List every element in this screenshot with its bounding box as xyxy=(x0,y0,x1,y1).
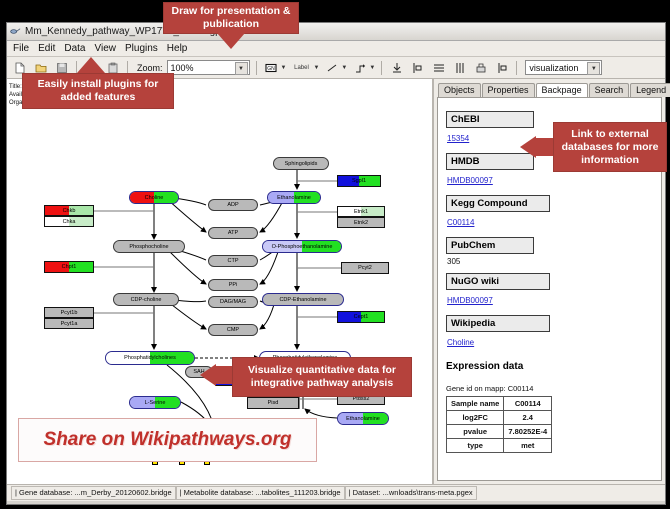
pathway-node-etnk1[interactable]: Etnk1 xyxy=(337,206,385,217)
db-header-kegg-compound: Kegg Compound xyxy=(446,195,550,212)
table-row: typemet xyxy=(447,439,552,453)
node-label: Pcyt1a xyxy=(61,321,78,327)
zoom-label: Zoom: xyxy=(137,63,163,73)
datanode-tool[interactable]: GN ▼ xyxy=(263,59,287,76)
node-label: Choline xyxy=(145,195,164,201)
line-tool[interactable]: ▼ xyxy=(323,59,347,76)
callout-plugins-arrow-icon xyxy=(77,57,105,73)
group-icon[interactable] xyxy=(493,59,510,76)
screenshot-root: Mm_Kennedy_pathway_WP1771_45176.gp File … xyxy=(0,0,670,509)
pathway-node-pcyt2[interactable]: Pcyt2 xyxy=(341,262,389,274)
align-left-icon[interactable] xyxy=(409,59,426,76)
callout-share-text: Share on Wikipathways.org xyxy=(44,429,292,451)
visualization-combobox[interactable]: visualization ▼ xyxy=(525,60,602,75)
node-label: Chkb xyxy=(63,208,76,214)
menu-bar: File Edit Data View Plugins Help xyxy=(7,41,665,57)
table-cell-key: type xyxy=(447,439,504,453)
pathway-node-adp[interactable]: ADP xyxy=(208,199,258,211)
node-label: Chka xyxy=(63,219,76,225)
pathway-node-ppi[interactable]: PPi xyxy=(208,279,258,291)
pathway-node-ethanolamine_top[interactable]: Ethanolamine xyxy=(267,191,321,204)
menu-help[interactable]: Help xyxy=(167,43,188,54)
callout-visualize-arrow-icon xyxy=(200,364,216,386)
arrow-connector-icon[interactable] xyxy=(351,59,368,76)
zoom-combobox[interactable]: 100% ▼ xyxy=(167,60,250,75)
pathway-node-choline_top[interactable]: Choline xyxy=(129,191,179,204)
node-label: PPi xyxy=(229,282,238,288)
pathway-node-atp[interactable]: ATP xyxy=(208,227,258,239)
db-value-hmdb[interactable]: HMDB00097 xyxy=(447,176,493,185)
pathway-node-ethanolamine_bot[interactable]: Ethanolamine xyxy=(337,412,389,425)
menu-edit[interactable]: Edit xyxy=(38,43,55,54)
table-cell-key: Sample name xyxy=(447,397,504,411)
menu-data[interactable]: Data xyxy=(64,43,85,54)
pathway-node-cdpethanolamine[interactable]: CDP-Ethanolamine xyxy=(262,293,344,306)
table-cell-value: C00114 xyxy=(504,397,552,411)
svg-text:GN: GN xyxy=(267,66,275,72)
db-header-wikipedia: Wikipedia xyxy=(446,315,550,332)
table-row: Sample nameC00114 xyxy=(447,397,552,411)
status-gene-database: | Gene database: ...m_Derby_20120602.bri… xyxy=(11,486,176,500)
callout-links-arrow-icon xyxy=(520,136,536,158)
toolbar-separator xyxy=(381,61,382,75)
table-cell-value: 7.80252E-4 xyxy=(504,425,552,439)
node-label: Pcyt1b xyxy=(61,310,78,316)
node-label: Ethanolamine xyxy=(277,195,311,201)
db-value-wikipedia[interactable]: Choline xyxy=(447,338,474,347)
tab-properties[interactable]: Properties xyxy=(482,83,535,97)
label-icon[interactable]: Label xyxy=(290,59,312,76)
node-label: Etnk2 xyxy=(354,220,368,226)
db-value-nugo-wiki[interactable]: HMDB00097 xyxy=(447,296,493,305)
pathway-node-pcyt1a[interactable]: Pcyt1a xyxy=(44,318,94,329)
tab-objects[interactable]: Objects xyxy=(438,83,481,97)
node-label: Pisd xyxy=(268,400,279,406)
pathway-node-chka[interactable]: Chka xyxy=(44,216,94,227)
chevron-down-icon[interactable]: ▼ xyxy=(587,62,600,75)
db-value-pubchem: 305 xyxy=(447,257,653,266)
db-header-nugo-wiki: NuGO wiki xyxy=(446,273,550,290)
title-bar: Mm_Kennedy_pathway_WP1771_45176.gp xyxy=(7,23,665,41)
tab-search[interactable]: Search xyxy=(589,83,630,97)
table-row: pvalue7.80252E-4 xyxy=(447,425,552,439)
label-tool[interactable]: Label ▼ xyxy=(290,59,319,76)
pathway-node-sgpl1[interactable]: Sgpl1 xyxy=(337,175,381,187)
chevron-down-icon[interactable]: ▼ xyxy=(281,65,287,71)
node-label: Pcyt2 xyxy=(358,265,372,271)
chevron-down-icon[interactable]: ▼ xyxy=(235,62,248,75)
pathway-node-cdpcholine[interactable]: CDP-choline xyxy=(113,293,179,306)
node-label: Phosphatidylcholines xyxy=(124,355,176,361)
pathway-node-cmp[interactable]: CMP xyxy=(208,324,258,336)
db-value-kegg-compound[interactable]: C00114 xyxy=(447,218,474,227)
align-bottom-icon[interactable] xyxy=(388,59,405,76)
pathway-node-sphingolipids[interactable]: Sphingolipids xyxy=(273,157,329,170)
menu-view[interactable]: View xyxy=(94,43,116,54)
status-bar: | Gene database: ...m_Derby_20120602.bri… xyxy=(7,484,665,501)
db-value-chebi[interactable]: 15354 xyxy=(447,134,469,143)
pathway-node-dagmag[interactable]: DAG/MAG xyxy=(208,296,258,308)
table-cell-key: log2FC xyxy=(447,411,504,425)
pathway-node-chkb[interactable]: Chkb xyxy=(44,205,94,216)
pathway-node-pisd[interactable]: Pisd xyxy=(247,397,299,409)
node-label: CMP xyxy=(227,327,239,333)
node-label: CDP-choline xyxy=(131,297,162,303)
node-label: Sgpl1 xyxy=(352,178,366,184)
pathway-node-ptdcholines[interactable]: Phosphatidylcholines xyxy=(105,351,195,365)
node-label: L-Serine xyxy=(145,400,166,406)
callout-visualize: Visualize quantitative data for integrat… xyxy=(232,357,412,397)
status-metabolite-database: | Metabolite database: ...tabolites_1112… xyxy=(176,486,345,500)
node-label: Etnk1 xyxy=(354,209,368,215)
table-cell-key: pvalue xyxy=(447,425,504,439)
toolbar-separator xyxy=(516,61,517,75)
pathway-node-ctp[interactable]: CTP xyxy=(208,255,258,267)
db-header-pubchem: PubChem xyxy=(446,237,534,254)
menu-plugins[interactable]: Plugins xyxy=(125,43,158,54)
table-cell-value: 2.4 xyxy=(504,411,552,425)
menu-file[interactable]: File xyxy=(13,43,29,54)
pathvisio-icon xyxy=(10,26,21,37)
node-label: CDP-Ethanolamine xyxy=(279,297,326,303)
pathway-node-cept1[interactable]: Cept1 xyxy=(337,311,385,323)
expression-data-heading: Expression data xyxy=(446,361,653,372)
status-dataset: | Dataset: ...wnloads\trans-meta.pgex xyxy=(345,486,477,500)
callout-share: Share on Wikipathways.org xyxy=(18,418,317,462)
gene-id-line: Gene id on mapp: C00114 xyxy=(446,384,653,393)
distribute-horizontal-icon[interactable] xyxy=(451,59,468,76)
chevron-down-icon[interactable]: ▼ xyxy=(313,65,319,71)
table-cell-value: met xyxy=(504,439,552,453)
callout-links: Link to external databases for more info… xyxy=(553,122,667,172)
node-label: DAG/MAG xyxy=(220,299,246,305)
pathway-node-pcyt1b[interactable]: Pcyt1b xyxy=(44,307,94,318)
node-label: CTP xyxy=(228,258,239,264)
callout-plugins: Easily install plugins for added feature… xyxy=(22,73,174,109)
visualization-value: visualization xyxy=(529,63,578,73)
toolbar-separator xyxy=(256,61,257,75)
node-label: Phosphocholine xyxy=(129,244,168,250)
zoom-value: 100% xyxy=(171,63,194,73)
table-row: log2FC2.4 xyxy=(447,411,552,425)
node-label: ATP xyxy=(228,230,238,236)
distribute-vertical-icon[interactable] xyxy=(430,59,447,76)
chevron-down-icon[interactable]: ▼ xyxy=(341,65,347,71)
db-header-chebi: ChEBI xyxy=(446,111,534,128)
connector-tool[interactable]: ▼ xyxy=(351,59,375,76)
line-icon[interactable] xyxy=(323,59,340,76)
datanode-icon[interactable]: GN xyxy=(263,59,280,76)
tab-legend[interactable]: Legend xyxy=(630,83,670,97)
side-panel-tabs: ObjectsPropertiesBackpageSearchLegend xyxy=(434,81,665,97)
node-label: Ethanolamine xyxy=(346,416,380,422)
pathway-node-phosphocholine[interactable]: Phosphocholine xyxy=(113,240,185,253)
pathway-node-chpt1[interactable]: Chpt1 xyxy=(44,261,94,273)
pathway-node-etnk2[interactable]: Etnk2 xyxy=(337,217,385,228)
callout-draw: Draw for presentation & publication xyxy=(163,2,299,34)
pathway-node-lserine_left[interactable]: L-Serine xyxy=(129,396,181,409)
chevron-down-icon[interactable]: ▼ xyxy=(369,65,375,71)
node-label: Cept1 xyxy=(354,314,369,320)
tab-backpage[interactable]: Backpage xyxy=(536,83,588,98)
callout-draw-arrow-icon xyxy=(217,33,245,49)
node-label: O-Phosphoethanolamine xyxy=(272,244,333,250)
node-label: Chpt1 xyxy=(62,264,77,270)
pathway-node-ophosphoeth[interactable]: O-Phosphoethanolamine xyxy=(262,240,342,253)
stack-icon[interactable] xyxy=(472,59,489,76)
expression-data-table: Sample nameC00114log2FC2.4pvalue7.80252E… xyxy=(446,396,552,453)
node-label: ADP xyxy=(227,202,238,208)
node-label: Sphingolipids xyxy=(285,161,318,167)
